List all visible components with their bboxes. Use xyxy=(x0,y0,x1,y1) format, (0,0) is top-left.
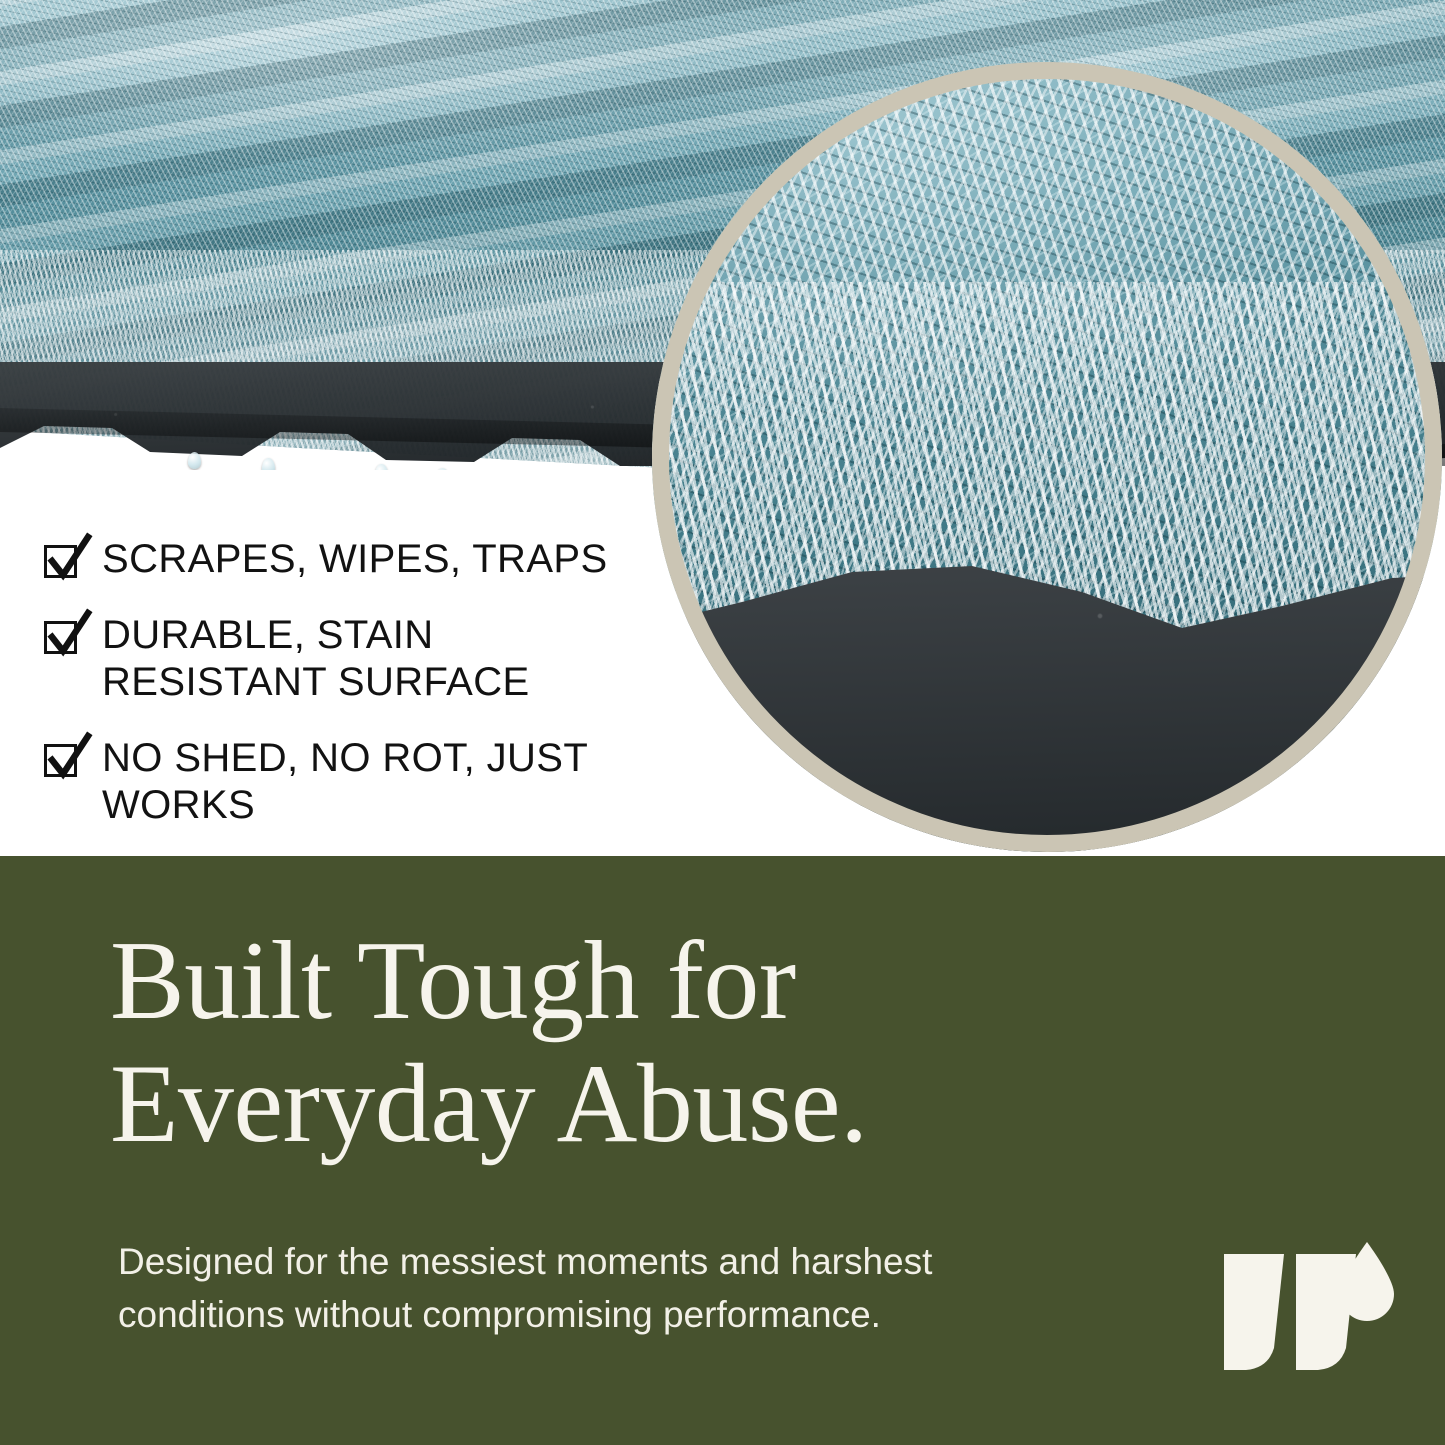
product-marketing-graphic: SCRAPES, WIPES, TRAPS DURABLE, STAIN RES… xyxy=(0,0,1445,1445)
checkbox-checked-icon xyxy=(44,541,82,579)
brand-logo xyxy=(1216,1236,1396,1396)
promo-headline: Built Tough for Everyday Abuse. xyxy=(110,920,1110,1166)
headline-line-2: Everyday Abuse. xyxy=(110,1043,1110,1166)
headline-line-1: Built Tough for xyxy=(110,919,796,1043)
checklist-item-label: SCRAPES, WIPES, TRAPS xyxy=(102,536,608,582)
checklist-item-label: DURABLE, STAIN RESISTANT SURFACE xyxy=(102,612,664,705)
feature-checklist: SCRAPES, WIPES, TRAPS DURABLE, STAIN RES… xyxy=(44,536,664,828)
checkbox-checked-icon xyxy=(44,740,82,778)
list-item: NO SHED, NO ROT, JUST WORKS xyxy=(44,735,664,828)
checklist-item-label: NO SHED, NO ROT, JUST WORKS xyxy=(102,735,664,828)
list-item: SCRAPES, WIPES, TRAPS xyxy=(44,536,664,582)
magnifier-circle xyxy=(652,62,1442,852)
list-item: DURABLE, STAIN RESISTANT SURFACE xyxy=(44,612,664,705)
checkbox-checked-icon xyxy=(44,617,82,655)
promo-subcopy: Designed for the messiest moments and ha… xyxy=(118,1236,948,1341)
water-droplet xyxy=(188,452,201,469)
